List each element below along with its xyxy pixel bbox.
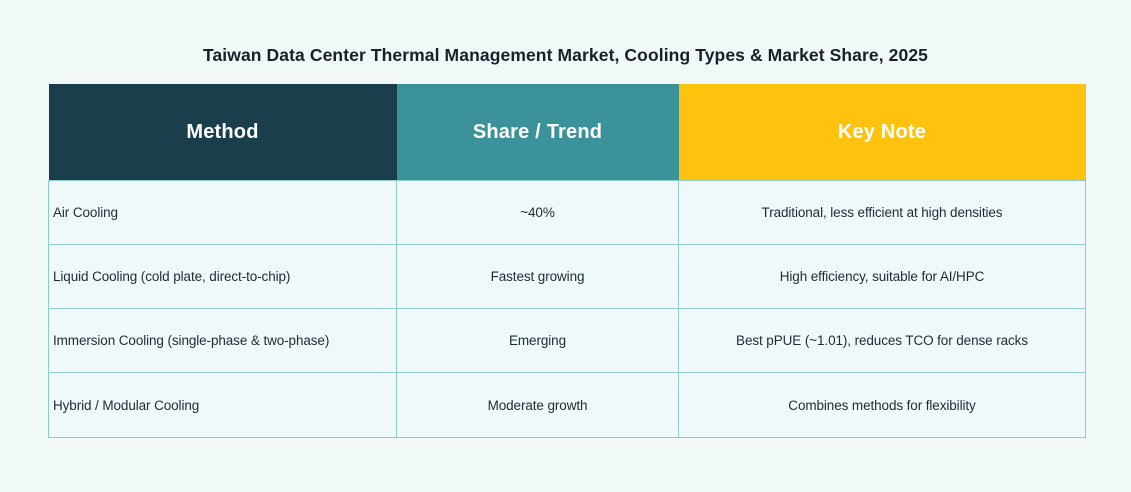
cell-share-trend: ~40%: [397, 181, 679, 245]
cell-share-trend: Fastest growing: [397, 245, 679, 309]
column-header-share-trend: Share / Trend: [397, 84, 679, 181]
table-row: Liquid Cooling (cold plate, direct-to-ch…: [49, 245, 1086, 309]
table-figure: Taiwan Data Center Thermal Management Ma…: [0, 0, 1131, 492]
cooling-types-table-container: Method Share / Trend Key Note Air Coolin…: [48, 84, 1085, 438]
cell-key-note: Traditional, less efficient at high dens…: [679, 181, 1086, 245]
table-header: Method Share / Trend Key Note: [49, 84, 1086, 181]
cell-key-note: Combines methods for flexibility: [679, 373, 1086, 438]
cooling-types-table: Method Share / Trend Key Note Air Coolin…: [48, 84, 1086, 438]
cell-method: Hybrid / Modular Cooling: [49, 373, 397, 438]
page-title: Taiwan Data Center Thermal Management Ma…: [0, 45, 1131, 66]
cell-key-note: High efficiency, suitable for AI/HPC: [679, 245, 1086, 309]
table-row: Hybrid / Modular Cooling Moderate growth…: [49, 373, 1086, 438]
table-row: Immersion Cooling (single-phase & two-ph…: [49, 309, 1086, 373]
column-header-key-note: Key Note: [679, 84, 1086, 181]
table-row: Air Cooling ~40% Traditional, less effic…: [49, 181, 1086, 245]
cell-method: Air Cooling: [49, 181, 397, 245]
table-body: Air Cooling ~40% Traditional, less effic…: [49, 181, 1086, 438]
cell-share-trend: Moderate growth: [397, 373, 679, 438]
cell-share-trend: Emerging: [397, 309, 679, 373]
column-header-method: Method: [49, 84, 397, 181]
cell-method: Immersion Cooling (single-phase & two-ph…: [49, 309, 397, 373]
cell-key-note: Best pPUE (~1.01), reduces TCO for dense…: [679, 309, 1086, 373]
cell-method: Liquid Cooling (cold plate, direct-to-ch…: [49, 245, 397, 309]
table-header-row: Method Share / Trend Key Note: [49, 84, 1086, 181]
